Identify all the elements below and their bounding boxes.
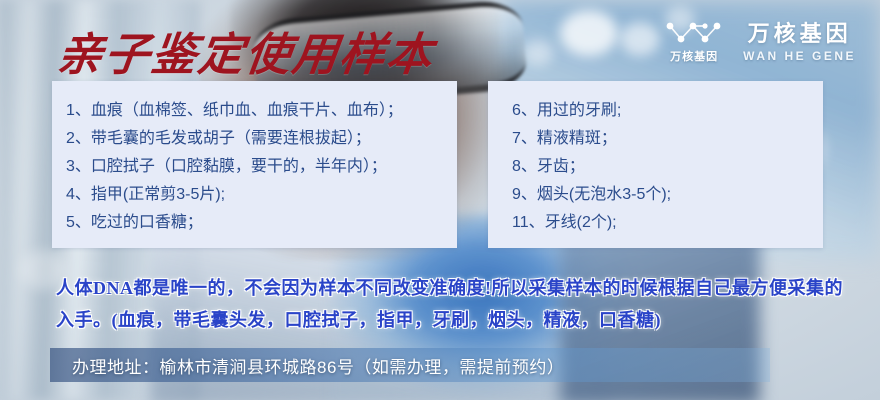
molecule-icon — [665, 20, 723, 46]
list-item: 6、用过的牙刷; — [512, 97, 823, 125]
list-item: 4、指甲(正常剪3-5片); — [66, 181, 457, 209]
brand-mark-label: 万核基因 — [670, 48, 718, 64]
list-item: 11、牙线(2个); — [512, 209, 823, 237]
sample-list-right: 6、用过的牙刷; 7、精液精斑； 8、牙齿； 9、烟头(无泡水3-5个); 11… — [488, 81, 823, 237]
brand-name-en: WAN HE GENE — [743, 50, 856, 62]
note-paragraph: 人体DNA都是唯一的，不会因为样本不同改变准确度!所以采集样本的时候根据自己最方… — [56, 272, 846, 336]
sample-list-panel-right: 6、用过的牙刷; 7、精液精斑； 8、牙齿； 9、烟头(无泡水3-5个); 11… — [488, 81, 823, 248]
list-item: 9、烟头(无泡水3-5个); — [512, 181, 823, 209]
brand-wordmark: 万核基因 WAN HE GENE — [743, 23, 856, 62]
list-item: 1、血痕（血棉签、纸巾血、血痕干片、血布）； — [66, 97, 457, 125]
poster-canvas: 亲子鉴定使用样本 — [0, 0, 880, 400]
list-item: 8、牙齿； — [512, 153, 823, 181]
brand-name-cn: 万核基因 — [748, 23, 852, 45]
sample-list-panel-left: 1、血痕（血棉签、纸巾血、血痕干片、血布）； 2、带毛囊的毛发或胡子（需要连根拔… — [52, 81, 457, 248]
list-item: 3、口腔拭子（口腔黏膜，要干的，半年内）； — [66, 153, 457, 181]
brand-logo: 万核基因 万核基因 WAN HE GENE — [665, 20, 856, 64]
brand-mark: 万核基因 — [665, 20, 723, 64]
address-text: 办理地址：榆林市清涧县环城路86号（如需办理，需提前预约） — [72, 348, 564, 382]
page-title: 亲子鉴定使用样本 — [54, 18, 438, 83]
list-item: 2、带毛囊的毛发或胡子（需要连根拔起）； — [66, 125, 457, 153]
sample-list-left: 1、血痕（血棉签、纸巾血、血痕干片、血布）； 2、带毛囊的毛发或胡子（需要连根拔… — [52, 81, 457, 237]
list-item: 7、精液精斑； — [512, 125, 823, 153]
list-item: 5、吃过的口香糖； — [66, 209, 457, 237]
